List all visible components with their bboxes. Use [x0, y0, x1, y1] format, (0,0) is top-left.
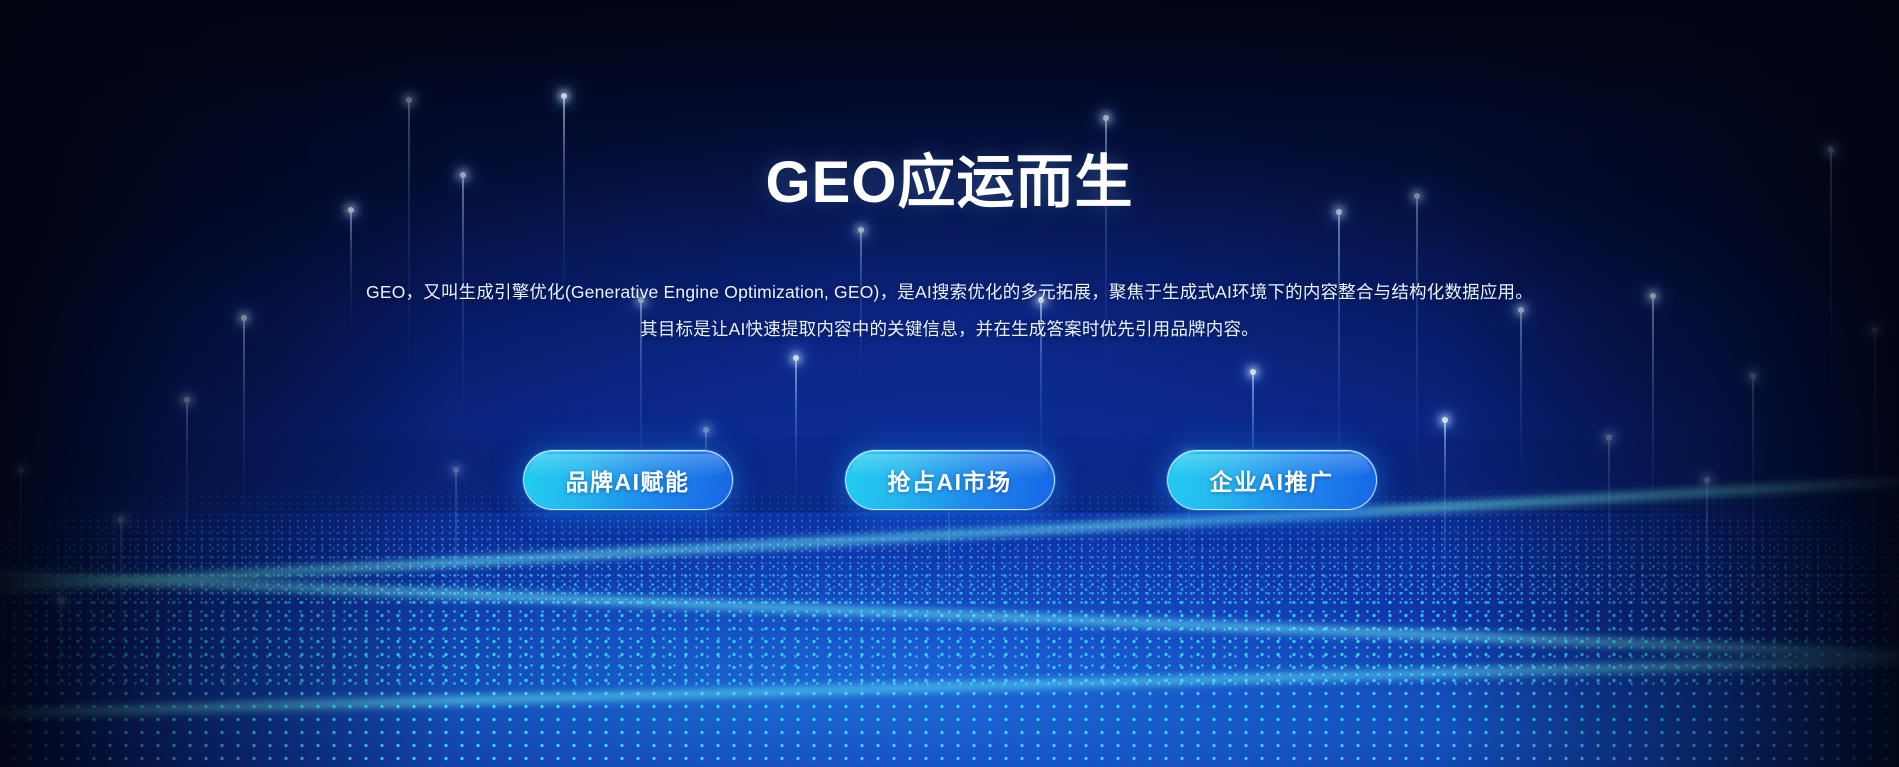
cta-button-enterprise-ai-promotion[interactable]: 企业AI推广 — [1167, 450, 1377, 510]
hero-content: GEO应运而生 GEO，又叫生成引擎优化(Generative Engine O… — [0, 0, 1899, 767]
cta-button-row: 品牌AI赋能 抢占AI市场 企业AI推广 — [0, 450, 1899, 510]
hero-description-line-2: 其目标是让AI快速提取内容中的关键信息，并在生成答案时优先引用品牌内容。 — [350, 311, 1550, 348]
cta-button-seize-ai-market[interactable]: 抢占AI市场 — [845, 450, 1055, 510]
hero-description-line-1: GEO，又叫生成引擎优化(Generative Engine Optimizat… — [350, 274, 1550, 311]
page-title: GEO应运而生 — [0, 151, 1899, 216]
hero-description: GEO，又叫生成引擎优化(Generative Engine Optimizat… — [350, 274, 1550, 348]
cta-button-brand-ai-empowerment[interactable]: 品牌AI赋能 — [523, 450, 733, 510]
hero-banner: GEO应运而生 GEO，又叫生成引擎优化(Generative Engine O… — [0, 0, 1899, 767]
